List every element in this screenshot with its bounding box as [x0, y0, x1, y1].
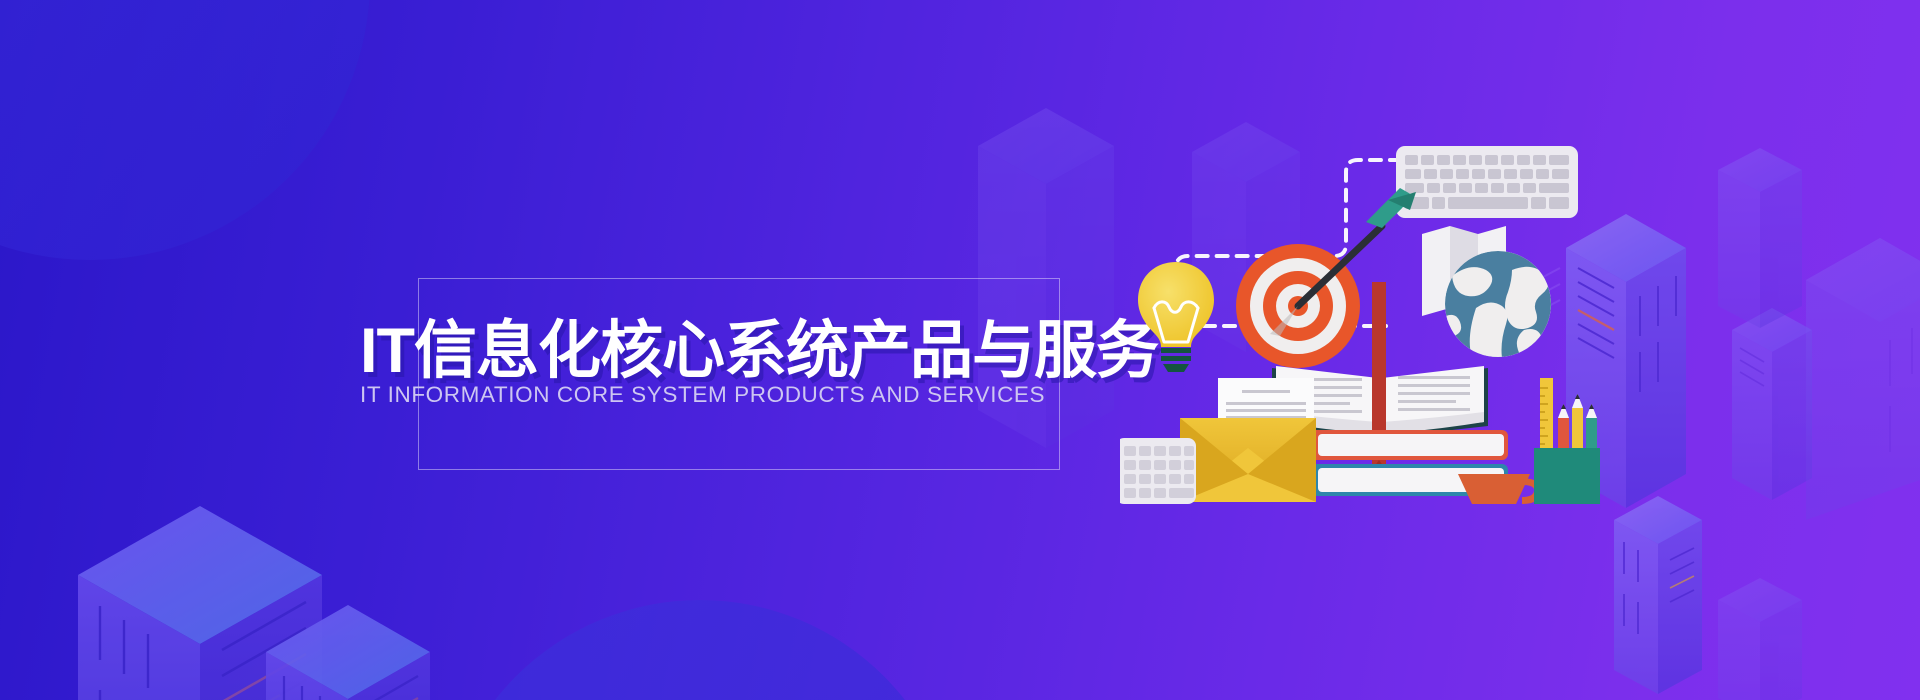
- keyboard-icon: [1120, 438, 1196, 504]
- coffee-cup-icon: [1458, 474, 1542, 504]
- lightbulb-icon: [1138, 262, 1214, 372]
- hero-illustration: [1120, 130, 1600, 570]
- isometric-building: [1718, 578, 1802, 700]
- book-icon: [1310, 430, 1508, 460]
- keyboard-icon: [1396, 146, 1578, 218]
- headline-block: IT信息化核心系统产品与服务 IT INFORMATION CORE SYSTE…: [418, 278, 1060, 470]
- isometric-building: [1806, 238, 1920, 520]
- target-with-arrow-icon: [1236, 188, 1416, 368]
- isometric-building: [1732, 308, 1812, 500]
- promo-banner: IT信息化核心系统产品与服务 IT INFORMATION CORE SYSTE…: [0, 0, 1920, 700]
- page-title: IT信息化核心系统产品与服务: [360, 300, 1158, 391]
- globe-icon: [1442, 251, 1551, 374]
- isometric-building: [1718, 148, 1802, 328]
- page-subtitle: IT INFORMATION CORE SYSTEM PRODUCTS AND …: [360, 382, 1045, 408]
- isometric-building: [1614, 496, 1702, 694]
- envelope-icon: [1180, 418, 1316, 502]
